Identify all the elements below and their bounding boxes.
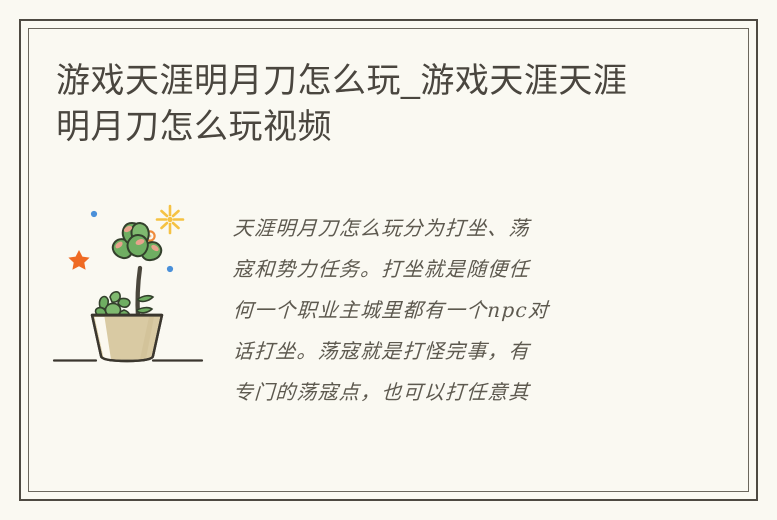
blue-dot-upper-icon — [91, 211, 97, 217]
blue-dot-lower-icon — [167, 266, 173, 272]
page-title-line-1: 游戏天涯明月刀怎么玩_游戏天涯天涯 — [56, 58, 676, 104]
article-paragraph-line: 话打坐。荡寇就是打怪完事，有 — [232, 331, 656, 372]
article-paragraph: 天涯明月刀怎么玩分为打坐、荡 寇和势力任务。打坐就是随便任 何一个职业主城里都有… — [233, 208, 655, 413]
yellow-sparkle-core-icon — [167, 217, 172, 222]
succulent-head — [113, 223, 161, 260]
flower-pot — [92, 315, 162, 361]
article-paragraph-line: 寇和势力任务。打坐就是随便任 — [232, 249, 656, 290]
article-paragraph-line: 何一个职业主城里都有一个npc对 — [232, 290, 656, 331]
page-canvas: 游戏天涯明月刀怎么玩_游戏天涯天涯 明月刀怎么玩视频 — [0, 0, 777, 520]
potted-plant-illustration — [50, 196, 225, 376]
page-title: 游戏天涯明月刀怎么玩_游戏天涯天涯 明月刀怎么玩视频 — [56, 58, 676, 150]
article-paragraph-line: 专门的荡寇点，也可以打任意其 — [232, 372, 656, 413]
orange-star-icon — [68, 250, 89, 270]
page-title-line-2: 明月刀怎么玩视频 — [56, 104, 676, 150]
article-paragraph-line: 天涯明月刀怎么玩分为打坐、荡 — [232, 208, 656, 249]
article-body: 天涯明月刀怎么玩分为打坐、荡 寇和势力任务。打坐就是随便任 何一个职业主城里都有… — [50, 196, 710, 466]
